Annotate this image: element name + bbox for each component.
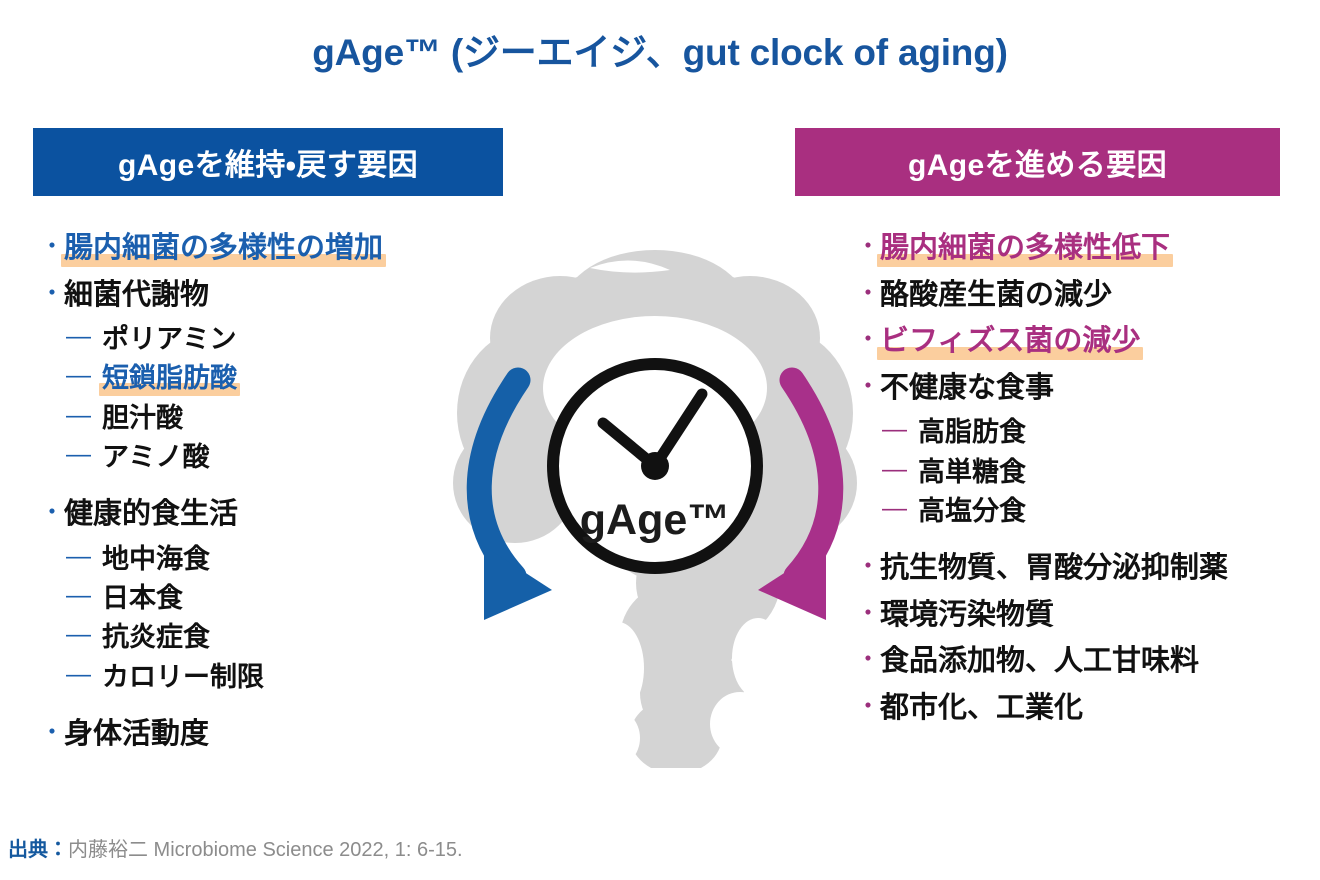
list-item-label: 短鎖脂肪酸 — [102, 360, 237, 397]
left-panel-list: ・腸内細菌の多様性の増加・細菌代謝物—ポリアミン—短鎖脂肪酸—胆汁酸—アミノ酸・… — [40, 228, 480, 760]
list-item: —短鎖脂肪酸 — [40, 360, 480, 397]
list-item-label: 細菌代謝物 — [64, 275, 209, 316]
list-item: —胆汁酸 — [40, 400, 480, 437]
list-item: ・環境汚染物質 — [856, 595, 1306, 636]
list-item-label: 胆汁酸 — [102, 400, 183, 437]
list-item: ・抗生物質、胃酸分泌抑制薬 — [856, 548, 1306, 589]
list-item: —日本食 — [40, 580, 480, 617]
dash-icon: — — [66, 363, 102, 388]
list-item: ・身体活動度 — [40, 714, 480, 755]
list-item-label: 高脂肪食 — [918, 414, 1026, 451]
list-item-label: 抗生物質、胃酸分泌抑制薬 — [880, 548, 1228, 589]
list-item: —ポリアミン — [40, 321, 480, 358]
bullet-icon: ・ — [40, 282, 64, 306]
source-text: 内藤裕二 Microbiome Science 2022, 1: 6-15. — [68, 839, 463, 861]
clock-label: gAge™ — [580, 496, 731, 544]
source-label: 出典： — [8, 839, 68, 861]
dash-icon: — — [66, 583, 102, 608]
list-item-label: 腸内細菌の多様性の増加 — [64, 228, 383, 269]
dash-icon: — — [66, 324, 102, 349]
list-item-label: 腸内細菌の多様性低下 — [880, 228, 1170, 269]
list-item: —カロリー制限 — [40, 659, 480, 696]
list-item-label: 不健康な食事 — [880, 368, 1054, 409]
list-item-label: 高塩分食 — [918, 493, 1026, 530]
list-item: ・健康的食生活 — [40, 494, 480, 535]
dash-icon: — — [66, 442, 102, 467]
list-item: ・食品添加物、人工甘味料 — [856, 641, 1306, 682]
dash-icon: — — [66, 544, 102, 569]
list-item: —高単糖食 — [856, 454, 1306, 491]
list-item: —抗炎症食 — [40, 619, 480, 656]
list-item: ・腸内細菌の多様性低下 — [856, 228, 1306, 269]
list-item-label: カロリー制限 — [102, 659, 264, 696]
left-panel-header-label: gAgeを維持・戻す要因 — [118, 140, 418, 184]
list-item-label: アミノ酸 — [102, 439, 209, 476]
list-item: ・都市化、工業化 — [856, 688, 1306, 729]
dash-icon: — — [66, 662, 102, 687]
list-item: —高脂肪食 — [856, 414, 1306, 451]
dash-icon: — — [66, 403, 102, 428]
list-item-label: 酪酸産生菌の減少 — [880, 275, 1112, 316]
dash-icon: — — [882, 457, 918, 482]
clock-face: gAge™ — [553, 364, 757, 568]
bullet-icon: ・ — [40, 501, 64, 525]
list-item: ・細菌代謝物 — [40, 275, 480, 316]
list-item: —地中海食 — [40, 541, 480, 578]
gut-clock-illustration: gAge™ — [440, 238, 870, 768]
list-item-label: ビフィズス菌の減少 — [880, 321, 1140, 362]
list-item-label: 日本食 — [102, 580, 183, 617]
list-item-label: 食品添加物、人工甘味料 — [880, 641, 1199, 682]
right-panel-list: ・腸内細菌の多様性低下・酪酸産生菌の減少・ビフィズス菌の減少・不健康な食事—高脂… — [856, 228, 1306, 735]
list-item-label: 抗炎症食 — [102, 619, 210, 656]
list-item-label: 健康的食生活 — [64, 494, 238, 535]
bullet-icon: ・ — [40, 721, 64, 745]
left-panel-header: gAgeを維持・戻す要因 — [33, 128, 503, 196]
list-item: ・不健康な食事 — [856, 368, 1306, 409]
list-item-label: 地中海食 — [102, 541, 210, 578]
dash-icon: — — [882, 496, 918, 521]
list-item: ・酪酸産生菌の減少 — [856, 275, 1306, 316]
list-item-label: 身体活動度 — [64, 714, 209, 755]
list-item-label: 都市化、工業化 — [880, 688, 1083, 729]
list-item-label: 高単糖食 — [918, 454, 1026, 491]
right-panel-header: gAgeを進める要因 — [795, 128, 1280, 196]
list-item: —高塩分食 — [856, 493, 1306, 530]
right-panel-header-label: gAgeを進める要因 — [908, 140, 1167, 184]
list-item-label: ポリアミン — [102, 321, 236, 358]
page-title: gAge™ (ジーエイジ、gut clock of aging) — [0, 22, 1320, 76]
list-item: —アミノ酸 — [40, 439, 480, 476]
list-item-label: 環境汚染物質 — [880, 595, 1054, 636]
list-item: ・ビフィズス菌の減少 — [856, 321, 1306, 362]
dash-icon: — — [66, 622, 102, 647]
dash-icon: — — [882, 417, 918, 442]
source-citation: 出典：内藤裕二 Microbiome Science 2022, 1: 6-15… — [8, 833, 463, 862]
list-item: ・腸内細菌の多様性の増加 — [40, 228, 480, 269]
